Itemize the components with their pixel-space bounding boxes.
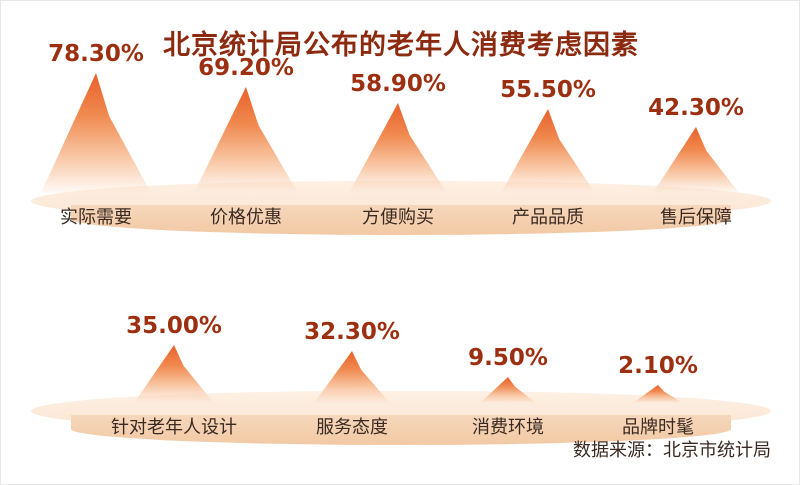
peak-shape xyxy=(480,377,536,403)
peak-shape xyxy=(314,351,390,403)
value-label: 78.30% xyxy=(21,41,171,67)
category-label: 售后保障 xyxy=(621,203,771,229)
value-label: 35.00% xyxy=(99,313,249,339)
peak-wrap xyxy=(323,43,473,193)
value-label: 58.90% xyxy=(323,71,473,97)
peak-shape xyxy=(41,73,151,193)
category-label: 服务态度 xyxy=(277,413,427,439)
peak-shape xyxy=(134,345,214,403)
value-label: 2.10% xyxy=(583,353,733,379)
peak-shape xyxy=(653,127,739,193)
chart-container: 北京统计局公布的老年人消费考虑因素 78.30% 实际需要 69.20% 价格优… xyxy=(0,0,800,485)
category-label: 实际需要 xyxy=(21,203,171,229)
category-label: 消费环境 xyxy=(433,413,583,439)
category-label: 产品品质 xyxy=(473,203,623,229)
source-note: 数据来源：北京市统计局 xyxy=(573,436,771,462)
chart-row-bottom: 35.00% 针对老年人设计 32.30% 服务态度 9.50% 消费环境 2.… xyxy=(1,273,800,463)
peak-shape xyxy=(349,103,447,193)
category-label: 方便购买 xyxy=(323,203,473,229)
peak-wrap xyxy=(473,43,623,193)
value-label: 69.20% xyxy=(171,55,321,81)
value-label: 32.30% xyxy=(277,319,427,345)
peak-shape xyxy=(194,87,298,193)
value-label: 55.50% xyxy=(473,77,623,103)
chart-row-top: 78.30% 实际需要 69.20% 价格优惠 58.90% 方便购买 55.5… xyxy=(1,63,800,253)
value-label: 42.30% xyxy=(621,95,771,121)
category-label: 价格优惠 xyxy=(171,203,321,229)
peak-shape xyxy=(633,385,683,403)
peak-shape xyxy=(501,109,595,193)
category-label: 针对老年人设计 xyxy=(99,413,249,439)
peak-wrap xyxy=(583,253,733,403)
value-label: 9.50% xyxy=(433,345,583,371)
peak-wrap xyxy=(433,253,583,403)
